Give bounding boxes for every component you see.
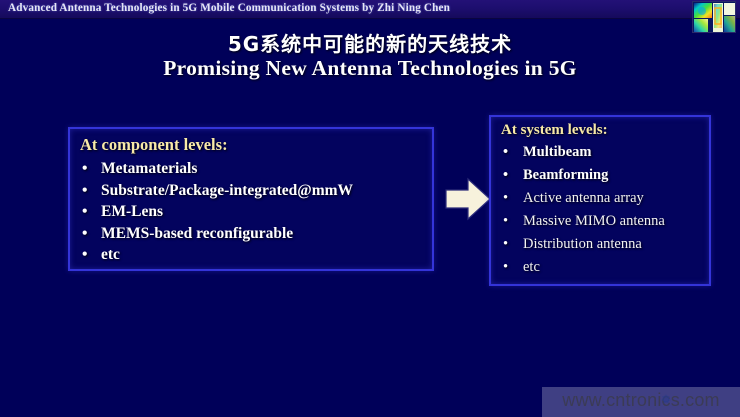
list-item: • Multibeam	[503, 141, 709, 164]
list-item: • Distribution antenna	[503, 233, 709, 256]
list-item-label: etc	[101, 244, 120, 266]
watermark-badge-icon	[660, 393, 672, 405]
list-item-label: Beamforming	[523, 164, 608, 187]
component-levels-list: • Metamaterials • Substrate/Package-inte…	[70, 157, 432, 266]
list-item: • EM-Lens	[82, 201, 432, 223]
bullet-icon: •	[82, 180, 87, 202]
panel-right-heading: At system levels:	[491, 117, 709, 140]
slide-canvas: Advanced Antenna Technologies in 5G Mobi…	[0, 0, 740, 417]
list-item-label: etc	[523, 256, 540, 279]
bullet-icon: •	[503, 233, 508, 256]
slide-title-english: Promising New Antenna Technologies in 5G	[0, 56, 740, 81]
list-item: • Beamforming	[503, 164, 709, 187]
bullet-icon: •	[503, 141, 508, 164]
panel-system-levels: At system levels: • Multibeam • Beamform…	[489, 115, 711, 286]
watermark-bar: www.cntronics.com	[542, 387, 740, 417]
bullet-icon: •	[82, 201, 87, 223]
bullet-icon: •	[82, 158, 87, 180]
list-item: • etc	[82, 244, 432, 266]
list-item-label: MEMS-based reconfigurable	[101, 223, 293, 245]
panel-component-levels: At component levels: • Metamaterials • S…	[68, 127, 434, 271]
list-item: • Massive MIMO antenna	[503, 210, 709, 233]
bullet-icon: •	[503, 164, 508, 187]
slide-title-chinese: 5G系统中可能的新的天线技术	[0, 28, 740, 57]
list-item-label: Multibeam	[523, 141, 591, 164]
list-item-label: Metamaterials	[101, 158, 197, 180]
list-item: • Metamaterials	[82, 158, 432, 180]
watermark-label: www.cntronics.com	[542, 390, 740, 411]
right-arrow-icon	[444, 176, 492, 222]
list-item-label: EM-Lens	[101, 201, 163, 223]
bullet-icon: •	[503, 187, 508, 210]
header-bar: Advanced Antenna Technologies in 5G Mobi…	[0, 0, 740, 19]
list-item-label: Active antenna array	[523, 187, 644, 210]
panel-left-heading: At component levels:	[70, 129, 432, 157]
list-item-label: Substrate/Package-integrated@mmW	[101, 180, 353, 202]
right-arrow-glyph	[444, 176, 492, 222]
bullet-icon: •	[82, 223, 87, 245]
bullet-icon: •	[503, 210, 508, 233]
list-item-label: Distribution antenna	[523, 233, 642, 256]
presentation-title-banner: Advanced Antenna Technologies in 5G Mobi…	[8, 2, 450, 14]
list-item-label: Massive MIMO antenna	[523, 210, 665, 233]
list-item: • etc	[503, 256, 709, 279]
list-item: • MEMS-based reconfigurable	[82, 223, 432, 245]
list-item: • Active antenna array	[503, 187, 709, 210]
bullet-icon: •	[503, 256, 508, 279]
system-levels-list: • Multibeam • Beamforming • Active anten…	[491, 140, 709, 279]
list-item: • Substrate/Package-integrated@mmW	[82, 180, 432, 202]
bullet-icon: •	[82, 244, 87, 266]
